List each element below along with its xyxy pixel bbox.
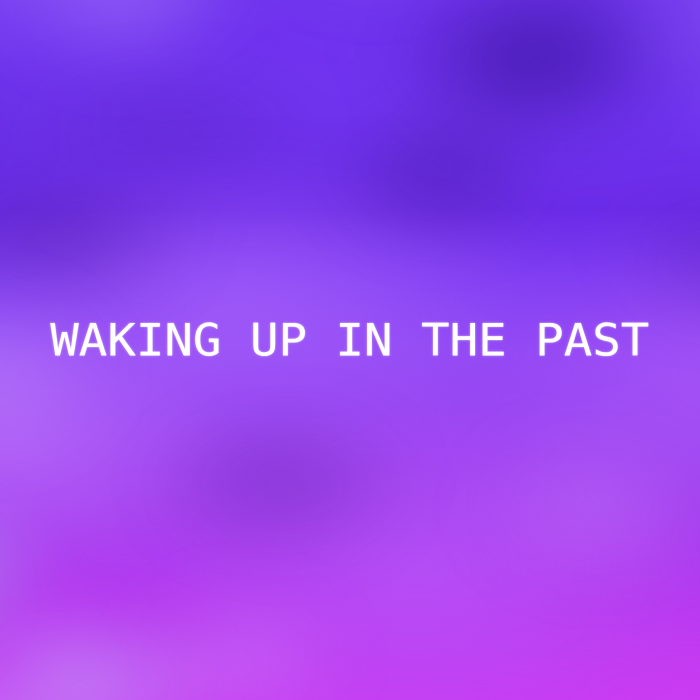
artwork-title: WAKING UP IN THE PAST bbox=[50, 318, 649, 362]
title-container: WAKING UP IN THE PAST bbox=[0, 0, 700, 700]
album-artwork: WAKING UP IN THE PAST bbox=[0, 0, 700, 700]
